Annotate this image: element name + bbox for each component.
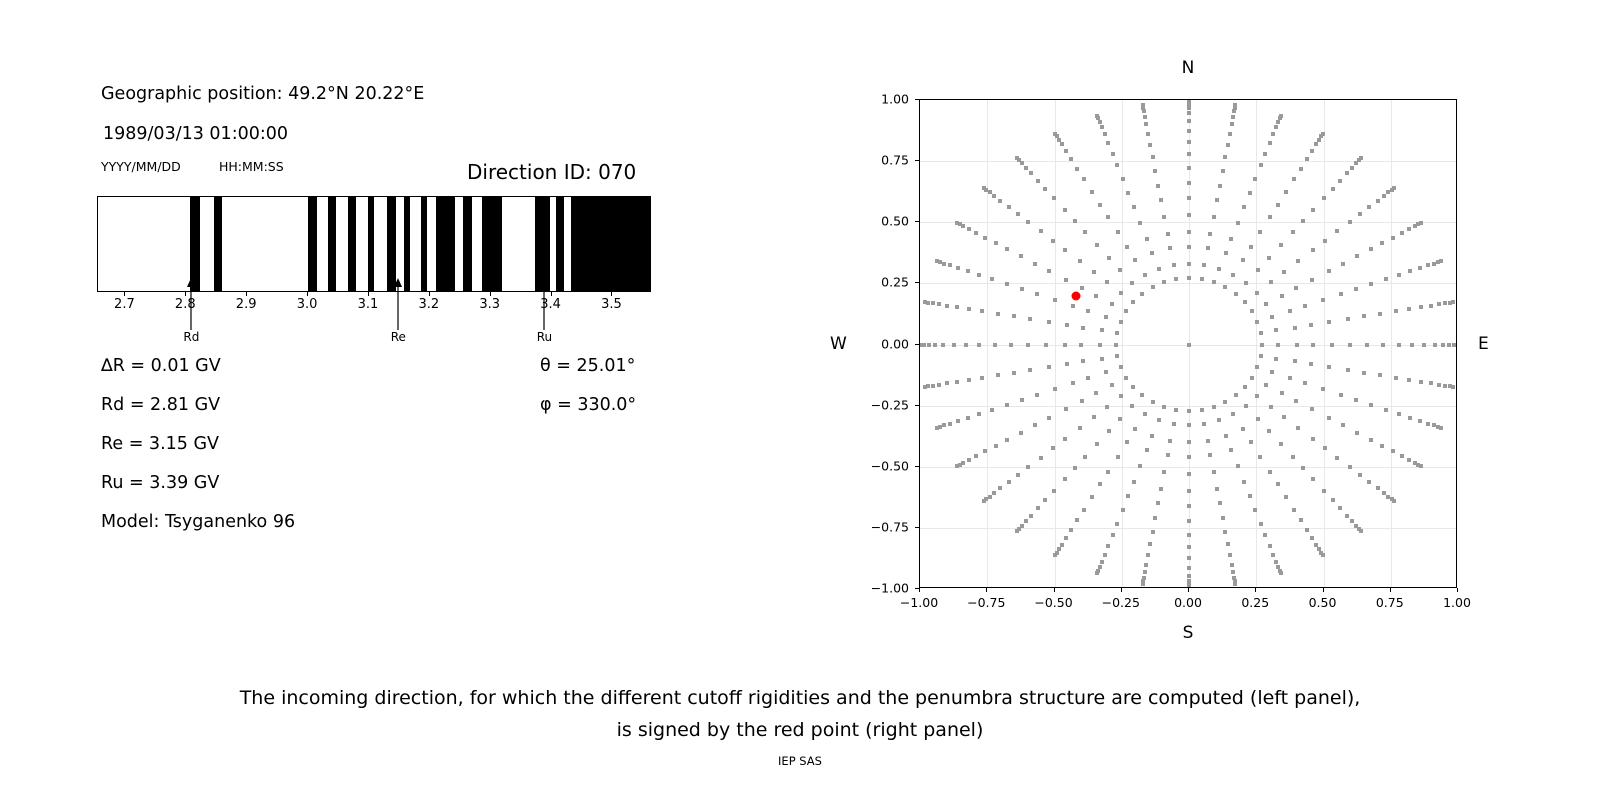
direction-point [1200, 277, 1204, 281]
direction-point [1073, 466, 1077, 470]
direction-point [1310, 407, 1314, 411]
direction-point [1355, 431, 1359, 435]
direction-point [1162, 280, 1166, 284]
direction-point [1080, 399, 1084, 403]
direction-point [1064, 407, 1068, 411]
y-axis-tick-label: 0.00 [861, 336, 909, 351]
direction-point [1119, 394, 1123, 398]
direction-point [1187, 196, 1191, 200]
direction-point [1144, 563, 1148, 567]
direction-point [1279, 442, 1283, 446]
direction-point [1242, 205, 1246, 209]
direction-point [1426, 263, 1430, 267]
direction-point [1060, 543, 1064, 547]
axis-tick-label: 3.0 [297, 297, 318, 312]
direction-point [1256, 417, 1260, 421]
direction-point [1103, 132, 1107, 136]
direction-point [1145, 237, 1149, 241]
x-axis-tick [1121, 588, 1122, 592]
x-axis-tick-label: 0.50 [1309, 595, 1337, 610]
direction-point [1376, 199, 1380, 203]
direction-point [1346, 368, 1350, 372]
direction-point [1187, 519, 1191, 523]
direction-point [1138, 221, 1142, 225]
direction-point [1258, 230, 1262, 234]
direction-point [1407, 378, 1411, 382]
direction-point [1260, 343, 1264, 347]
x-axis-tick [1054, 588, 1055, 592]
y-axis-tick-label: 0.25 [861, 275, 909, 290]
direction-point [1231, 115, 1235, 119]
direction-point [1009, 343, 1013, 347]
axis-tick [611, 292, 612, 296]
direction-point [1130, 404, 1134, 408]
direction-point [1105, 405, 1109, 409]
direction-point [1047, 269, 1051, 273]
gridline-vertical [1055, 100, 1056, 587]
direction-point [1095, 243, 1099, 247]
direction-point [1100, 560, 1104, 564]
direction-point [1250, 376, 1254, 380]
direction-point [1116, 230, 1120, 234]
direction-point [1382, 194, 1386, 198]
direction-point [1200, 408, 1204, 412]
direction-point [1016, 473, 1020, 477]
direction-point [1362, 314, 1366, 318]
x-axis-tick [986, 588, 987, 592]
direction-point [1291, 455, 1295, 459]
direction-point [1293, 326, 1297, 330]
direction-point [1187, 455, 1191, 459]
direction-point [1263, 152, 1267, 156]
direction-point [1187, 181, 1191, 185]
direction-point [1143, 412, 1147, 416]
direction-point [990, 277, 994, 281]
direction-point [1407, 458, 1411, 462]
direction-point [1234, 292, 1238, 296]
y-axis-tick-label: 1.00 [861, 92, 909, 107]
direction-point [1410, 343, 1414, 347]
direction-point [1380, 241, 1384, 245]
direction-point [1036, 179, 1040, 183]
direction-point [1133, 258, 1137, 262]
direction-point [945, 381, 949, 385]
direction-point [1263, 533, 1267, 537]
direction-point [1451, 300, 1455, 304]
direction-point [1288, 309, 1292, 313]
direction-point [1441, 343, 1445, 347]
x-axis-tick-label: 0.75 [1376, 595, 1404, 610]
gridline-vertical [1256, 100, 1257, 587]
direction-point [931, 301, 935, 305]
direction-point [1419, 221, 1423, 225]
direction-point [1140, 393, 1144, 397]
direction-point [966, 416, 970, 420]
direction-point [1148, 143, 1152, 147]
direction-point [1131, 300, 1135, 304]
y-axis-tick-label: 0.50 [861, 214, 909, 229]
direction-point [1392, 499, 1396, 503]
direction-point [919, 343, 923, 347]
x-axis-tick-label: −0.50 [1034, 595, 1072, 610]
direction-point [1369, 247, 1373, 251]
direction-point [1187, 343, 1191, 347]
x-axis-tick-label: 0.25 [1241, 595, 1269, 610]
direction-map-panel: N S W E −1.00−0.75−0.50−0.250.000.250.50… [760, 0, 1600, 660]
direction-point [1248, 191, 1252, 195]
direction-point [1015, 529, 1019, 533]
direction-point [1384, 277, 1388, 281]
direction-point [1106, 215, 1110, 219]
y-axis-tick-label: −1.00 [861, 581, 909, 596]
geographic-position-label: Geographic position: 49.2°N 20.22°E [101, 84, 424, 104]
direction-point [1095, 114, 1099, 118]
direction-point [1115, 522, 1119, 526]
direction-point [1028, 317, 1032, 321]
direction-point [1104, 315, 1108, 319]
direction-point [1212, 470, 1216, 474]
direction-point [980, 309, 984, 313]
direction-point [1208, 232, 1212, 236]
direction-point [1157, 418, 1161, 422]
direction-point [1095, 571, 1099, 575]
direction-point [1271, 553, 1275, 557]
caption-line-2: is signed by the red point (right panel) [0, 714, 1600, 746]
direction-point [1264, 383, 1268, 387]
axis-tick-label: 2.7 [114, 297, 135, 312]
direction-point [1125, 440, 1129, 444]
direction-point [1168, 246, 1172, 250]
direction-point [1172, 263, 1176, 267]
direction-point [1341, 262, 1345, 266]
direction-point [977, 343, 981, 347]
direction-point [1043, 498, 1047, 502]
direction-point [1243, 300, 1247, 304]
direction-point [982, 186, 986, 190]
direction-point [1187, 99, 1191, 103]
parameter-value: ∆R = 0.01 GV [101, 356, 221, 376]
figure-caption: The incoming direction, for which the di… [0, 682, 1600, 746]
direction-point [1327, 416, 1331, 420]
direction-point [967, 378, 971, 382]
direction-point [1103, 553, 1107, 557]
direction-point [1299, 167, 1303, 171]
direction-point [1314, 543, 1318, 547]
direction-point [1249, 245, 1253, 249]
direction-point [1086, 376, 1090, 380]
direction-point [1053, 132, 1057, 136]
direction-point [1241, 427, 1245, 431]
gridline-vertical [1324, 100, 1325, 587]
direction-point [990, 408, 994, 412]
direction-point [1292, 177, 1296, 181]
direction-point [1397, 343, 1401, 347]
direction-point [1369, 282, 1373, 286]
direction-point [1039, 229, 1043, 233]
direction-point [1221, 169, 1225, 173]
direction-point [1419, 305, 1423, 309]
direction-point [1187, 213, 1191, 217]
direction-point [1187, 423, 1191, 427]
direction-point [1295, 343, 1299, 347]
direction-point [1118, 417, 1122, 421]
penumbra-forbidden-band [421, 197, 428, 291]
direction-point [1255, 291, 1259, 295]
direction-point [1345, 514, 1349, 518]
direction-point [980, 376, 984, 380]
rigidity-marker-arrow-rd [183, 278, 199, 332]
direction-point [1075, 518, 1079, 522]
direction-point [1310, 536, 1314, 540]
direction-point [933, 343, 937, 347]
direction-point [1047, 416, 1051, 420]
direction-point [1296, 259, 1300, 263]
direction-point [1339, 393, 1343, 397]
direction-point [1187, 409, 1191, 413]
direction-point [1187, 119, 1191, 123]
direction-point [1394, 309, 1398, 313]
direction-point [1309, 323, 1313, 327]
direction-point [1244, 404, 1248, 408]
direction-point [1280, 391, 1284, 395]
direction-point [1107, 256, 1111, 260]
direction-point [1086, 309, 1090, 313]
direction-point [1309, 362, 1313, 366]
direction-point [1187, 489, 1191, 493]
direction-point [1151, 155, 1155, 159]
x-axis-tick [919, 588, 920, 592]
direction-point [1311, 208, 1315, 212]
direction-point [1367, 205, 1371, 209]
direction-point [1187, 111, 1191, 115]
direction-point [996, 312, 1000, 316]
direction-point [1369, 403, 1373, 407]
direction-point [1141, 103, 1145, 107]
direction-point [1248, 494, 1252, 498]
direction-point [1376, 486, 1380, 490]
direction-point [1230, 563, 1234, 567]
direction-point [948, 422, 952, 426]
direction-point [1437, 302, 1441, 306]
direction-point [1187, 262, 1191, 266]
direction-point [1365, 343, 1369, 347]
direction-point [1047, 320, 1051, 324]
direction-point [1230, 122, 1234, 126]
direction-point [937, 302, 941, 306]
axis-tick-label: 3.2 [418, 297, 439, 312]
direction-point [1035, 393, 1039, 397]
direction-point [1051, 446, 1055, 450]
direction-point [1378, 312, 1382, 316]
direction-point [1422, 343, 1426, 347]
direction-point [1259, 163, 1263, 167]
penumbra-figure [97, 196, 651, 292]
direction-point [1270, 370, 1274, 374]
direction-point [1294, 286, 1298, 290]
axis-tick [429, 292, 430, 296]
direction-point [1153, 516, 1157, 520]
direction-point [1269, 280, 1273, 284]
axis-tick-label: 3.5 [601, 297, 622, 312]
direction-scatter-plot[interactable] [919, 99, 1457, 588]
direction-point [1146, 553, 1150, 557]
direction-point [1282, 415, 1286, 419]
direction-point [1327, 269, 1331, 273]
direction-point [1133, 427, 1137, 431]
penumbra-forbidden-band [436, 197, 455, 291]
direction-point [1270, 315, 1274, 319]
direction-point [966, 269, 970, 273]
direction-point [1187, 504, 1191, 508]
direction-point [1323, 446, 1327, 450]
direction-point [1348, 220, 1352, 224]
direction-point [1267, 429, 1271, 433]
direction-point [1310, 278, 1314, 282]
direction-point [1331, 187, 1335, 191]
direction-point [1187, 140, 1191, 144]
direction-point [1288, 376, 1292, 380]
direction-point [1033, 423, 1037, 427]
penumbra-forbidden-band [463, 197, 472, 291]
direction-point [1226, 542, 1230, 546]
direction-point [1153, 169, 1157, 173]
direction-point [942, 262, 946, 266]
direction-point [1400, 454, 1404, 458]
direction-point [1111, 533, 1115, 537]
rigidity-marker-label-rd: Rd [183, 330, 199, 344]
direction-point [1218, 184, 1222, 188]
direction-point [1293, 359, 1297, 363]
direction-point [1231, 570, 1235, 574]
direction-point [1124, 376, 1128, 380]
direction-point [1187, 129, 1191, 133]
direction-point [1311, 343, 1315, 347]
direction-point [961, 224, 965, 228]
direction-point [1024, 166, 1028, 170]
direction-point [1126, 494, 1130, 498]
direction-point [964, 343, 968, 347]
direction-point [927, 343, 931, 347]
direction-point [1065, 362, 1069, 366]
direction-point [998, 199, 1002, 203]
direction-point [1174, 277, 1178, 281]
direction-point [1321, 298, 1325, 302]
direction-point [1081, 359, 1085, 363]
direction-point [1098, 203, 1102, 207]
penumbra-forbidden-band [368, 197, 375, 291]
gridline-horizontal [920, 528, 1456, 529]
axis-tick-label: 3.1 [358, 297, 379, 312]
direction-point [1187, 440, 1191, 444]
direction-point [1215, 198, 1219, 202]
penumbra-panel: Geographic position: 49.2°N 20.22°E 1989… [0, 0, 760, 620]
direction-point [1367, 480, 1371, 484]
direction-point [1228, 132, 1232, 136]
direction-point [1130, 281, 1134, 285]
penumbra-forbidden-band [214, 197, 222, 291]
parameter-value: Rd = 2.81 GV [101, 395, 220, 415]
direction-point [1279, 114, 1283, 118]
direction-point [1236, 464, 1240, 468]
angle-parameter-value: θ = 25.01° [540, 356, 635, 376]
direction-point [1358, 212, 1362, 216]
direction-point [1033, 262, 1037, 266]
direction-point [1028, 368, 1032, 372]
direction-point [1280, 294, 1284, 298]
direction-point [1071, 381, 1075, 385]
direction-point [1305, 528, 1309, 532]
selected-direction-point[interactable] [1072, 291, 1081, 300]
direction-point [1419, 464, 1423, 468]
direction-point [1187, 245, 1191, 249]
direction-point [1212, 215, 1216, 219]
direction-point [1159, 487, 1163, 491]
direction-point [1094, 391, 1098, 395]
direction-point [994, 444, 998, 448]
direction-point [1381, 343, 1385, 347]
direction-point [1005, 247, 1009, 251]
compass-south-label: S [1183, 623, 1194, 643]
direction-point [983, 236, 987, 240]
direction-point [1105, 280, 1109, 284]
direction-point [1429, 381, 1433, 385]
y-axis-tick [915, 99, 919, 100]
direction-point [1174, 408, 1178, 412]
direction-point [1259, 354, 1263, 358]
direction-point [1451, 385, 1455, 389]
direction-point [1094, 294, 1098, 298]
direction-point [1234, 393, 1238, 397]
direction-point [1223, 285, 1227, 289]
direction-point [1276, 343, 1280, 347]
x-axis-tick [1188, 588, 1189, 592]
direction-point [1253, 177, 1257, 181]
gridline-vertical [1391, 100, 1392, 587]
direction-point [1303, 304, 1307, 308]
direction-point [1172, 422, 1176, 426]
direction-point [1382, 491, 1386, 495]
direction-point [1132, 205, 1136, 209]
direction-point [1359, 529, 1363, 533]
direction-point [1301, 219, 1305, 223]
penumbra-forbidden-band [404, 197, 411, 291]
direction-point [1026, 465, 1030, 469]
direction-point [1162, 405, 1166, 409]
direction-point [1268, 470, 1272, 474]
direction-point [1202, 422, 1206, 426]
axis-tick [307, 292, 308, 296]
direction-point [1255, 365, 1259, 369]
direction-point [1141, 582, 1145, 586]
direction-point [1119, 291, 1123, 295]
direction-point [1259, 331, 1263, 335]
direction-point [1143, 273, 1147, 277]
direction-point [967, 227, 971, 231]
direction-point [1063, 437, 1067, 441]
direction-point [1100, 328, 1104, 332]
direction-point [948, 263, 952, 267]
direction-point [993, 343, 997, 347]
direction-point [1299, 518, 1303, 522]
direction-point [1187, 574, 1191, 578]
direction-point [1310, 149, 1314, 153]
direction-point [1394, 376, 1398, 380]
direction-point [1007, 205, 1011, 209]
parameter-value: Ru = 3.39 GV [101, 473, 219, 493]
gridline-horizontal [920, 161, 1456, 162]
direction-point [1092, 270, 1096, 274]
direction-point [1106, 470, 1110, 474]
